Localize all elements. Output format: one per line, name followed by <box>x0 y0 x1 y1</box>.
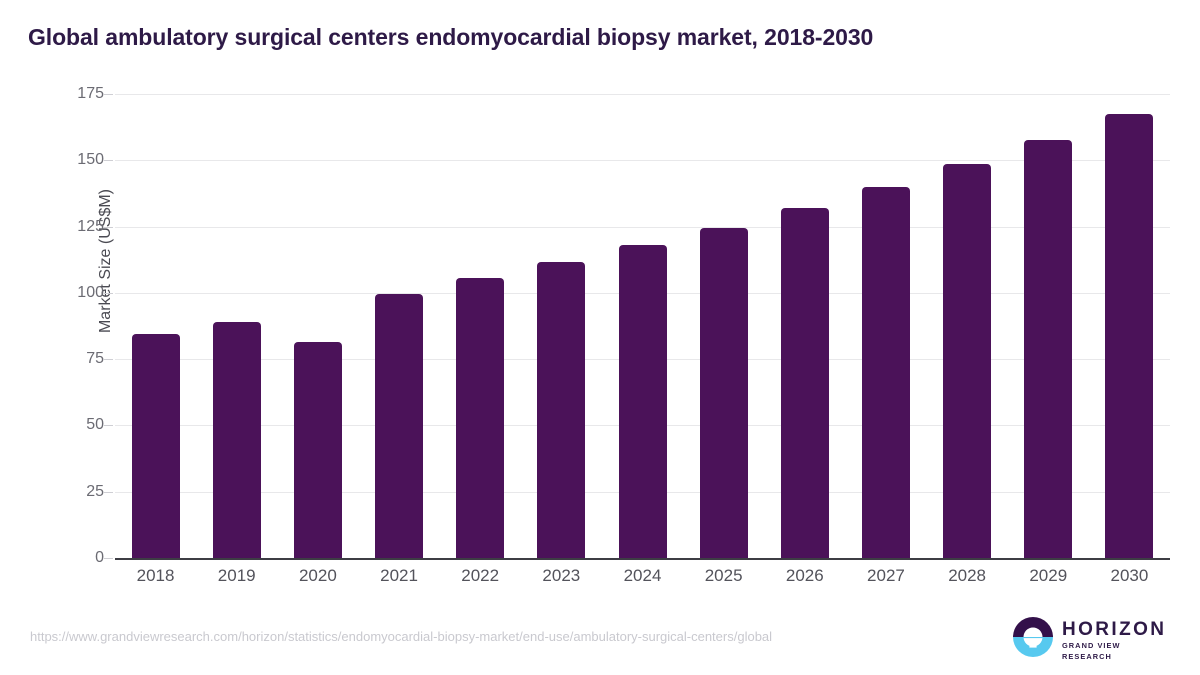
y-tick-mark <box>104 359 113 360</box>
x-tick-label: 2024 <box>624 566 662 586</box>
bar[interactable] <box>294 342 342 558</box>
x-tick-label: 2027 <box>867 566 905 586</box>
x-axis-line <box>115 558 1170 560</box>
bar[interactable] <box>1105 114 1153 558</box>
gridline <box>115 160 1170 161</box>
y-tick-mark <box>104 227 113 228</box>
x-tick-label: 2026 <box>786 566 824 586</box>
y-tick-mark <box>104 94 113 95</box>
bar[interactable] <box>781 208 829 558</box>
bar[interactable] <box>943 164 991 558</box>
x-tick-label: 2023 <box>542 566 580 586</box>
bar[interactable] <box>619 245 667 558</box>
page-title: Global ambulatory surgical centers endom… <box>28 24 873 51</box>
y-tick-label: 125 <box>44 218 104 236</box>
chart-page: Global ambulatory surgical centers endom… <box>0 0 1200 675</box>
y-tick-mark <box>104 492 113 493</box>
logo-tagline: GRAND VIEW RESEARCH <box>1062 640 1170 662</box>
x-tick-label: 2022 <box>461 566 499 586</box>
source-url[interactable]: https://www.grandviewresearch.com/horizo… <box>30 629 772 644</box>
y-tick-label: 100 <box>44 284 104 302</box>
y-tick-label: 175 <box>44 85 104 103</box>
y-tick-label: 25 <box>44 483 104 501</box>
x-tick-label: 2018 <box>137 566 175 586</box>
bar[interactable] <box>862 187 910 558</box>
horizon-logo-icon <box>1012 616 1054 658</box>
horizon-logo[interactable]: HORIZON GRAND VIEW RESEARCH <box>1010 613 1170 661</box>
bar[interactable] <box>375 294 423 558</box>
y-tick-label: 75 <box>44 350 104 368</box>
y-tick-label: 50 <box>44 416 104 434</box>
bar[interactable] <box>1024 140 1072 558</box>
gridline <box>115 227 1170 228</box>
y-tick-label: 0 <box>44 549 104 567</box>
y-tick-mark <box>104 425 113 426</box>
bar[interactable] <box>456 278 504 558</box>
bar[interactable] <box>537 262 585 558</box>
x-tick-label: 2030 <box>1111 566 1149 586</box>
x-tick-label: 2028 <box>948 566 986 586</box>
x-tick-label: 2025 <box>705 566 743 586</box>
y-axis-ticks: 0255075100125150175 <box>40 94 104 558</box>
x-axis-ticks: 2018201920202021202220232024202520262027… <box>115 566 1170 596</box>
y-tick-mark <box>104 160 113 161</box>
gridline <box>115 94 1170 95</box>
bar[interactable] <box>213 322 261 558</box>
x-tick-label: 2021 <box>380 566 418 586</box>
horizon-logo-text: HORIZON GRAND VIEW RESEARCH <box>1062 619 1170 662</box>
y-tick-label: 150 <box>44 151 104 169</box>
bar[interactable] <box>700 228 748 558</box>
y-tick-mark <box>104 293 113 294</box>
bar[interactable] <box>132 334 180 558</box>
x-tick-label: 2020 <box>299 566 337 586</box>
logo-wordmark: HORIZON <box>1062 619 1170 640</box>
x-tick-label: 2029 <box>1029 566 1067 586</box>
plot-area <box>115 94 1170 558</box>
y-tick-mark <box>104 558 113 559</box>
x-tick-label: 2019 <box>218 566 256 586</box>
